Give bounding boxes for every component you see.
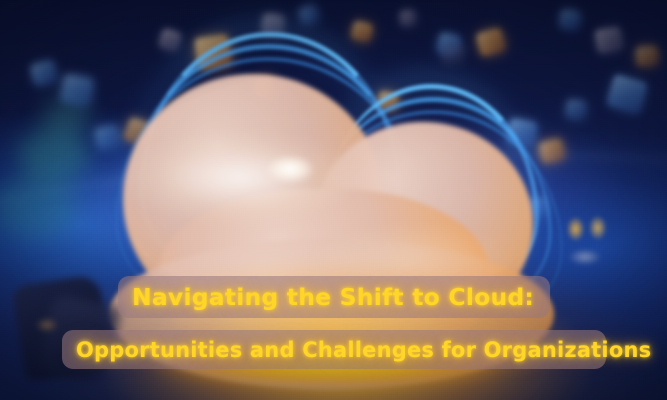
floating-cube-icon	[594, 26, 624, 54]
floating-cube-icon	[60, 74, 94, 107]
title-banner-line-2: Opportunities and Challenges for Organiz…	[62, 330, 606, 369]
amber-glyph-cluster-icon	[566, 214, 610, 244]
floating-cube-icon	[606, 74, 648, 114]
hero-banner: Navigating the Shift to Cloud: Opportuni…	[0, 0, 667, 400]
pale-glyph-cluster-icon	[558, 246, 612, 268]
floating-cube-icon	[635, 45, 658, 66]
cloud-highlight-icon	[267, 156, 313, 182]
title-banner-line-1: Navigating the Shift to Cloud:	[118, 276, 550, 318]
page-title-line-2: Opportunities and Challenges for Organiz…	[76, 338, 651, 362]
floating-cube-icon	[30, 59, 59, 86]
page-title-line-1: Navigating the Shift to Cloud:	[132, 283, 534, 311]
amber-spark-icon	[36, 318, 58, 332]
